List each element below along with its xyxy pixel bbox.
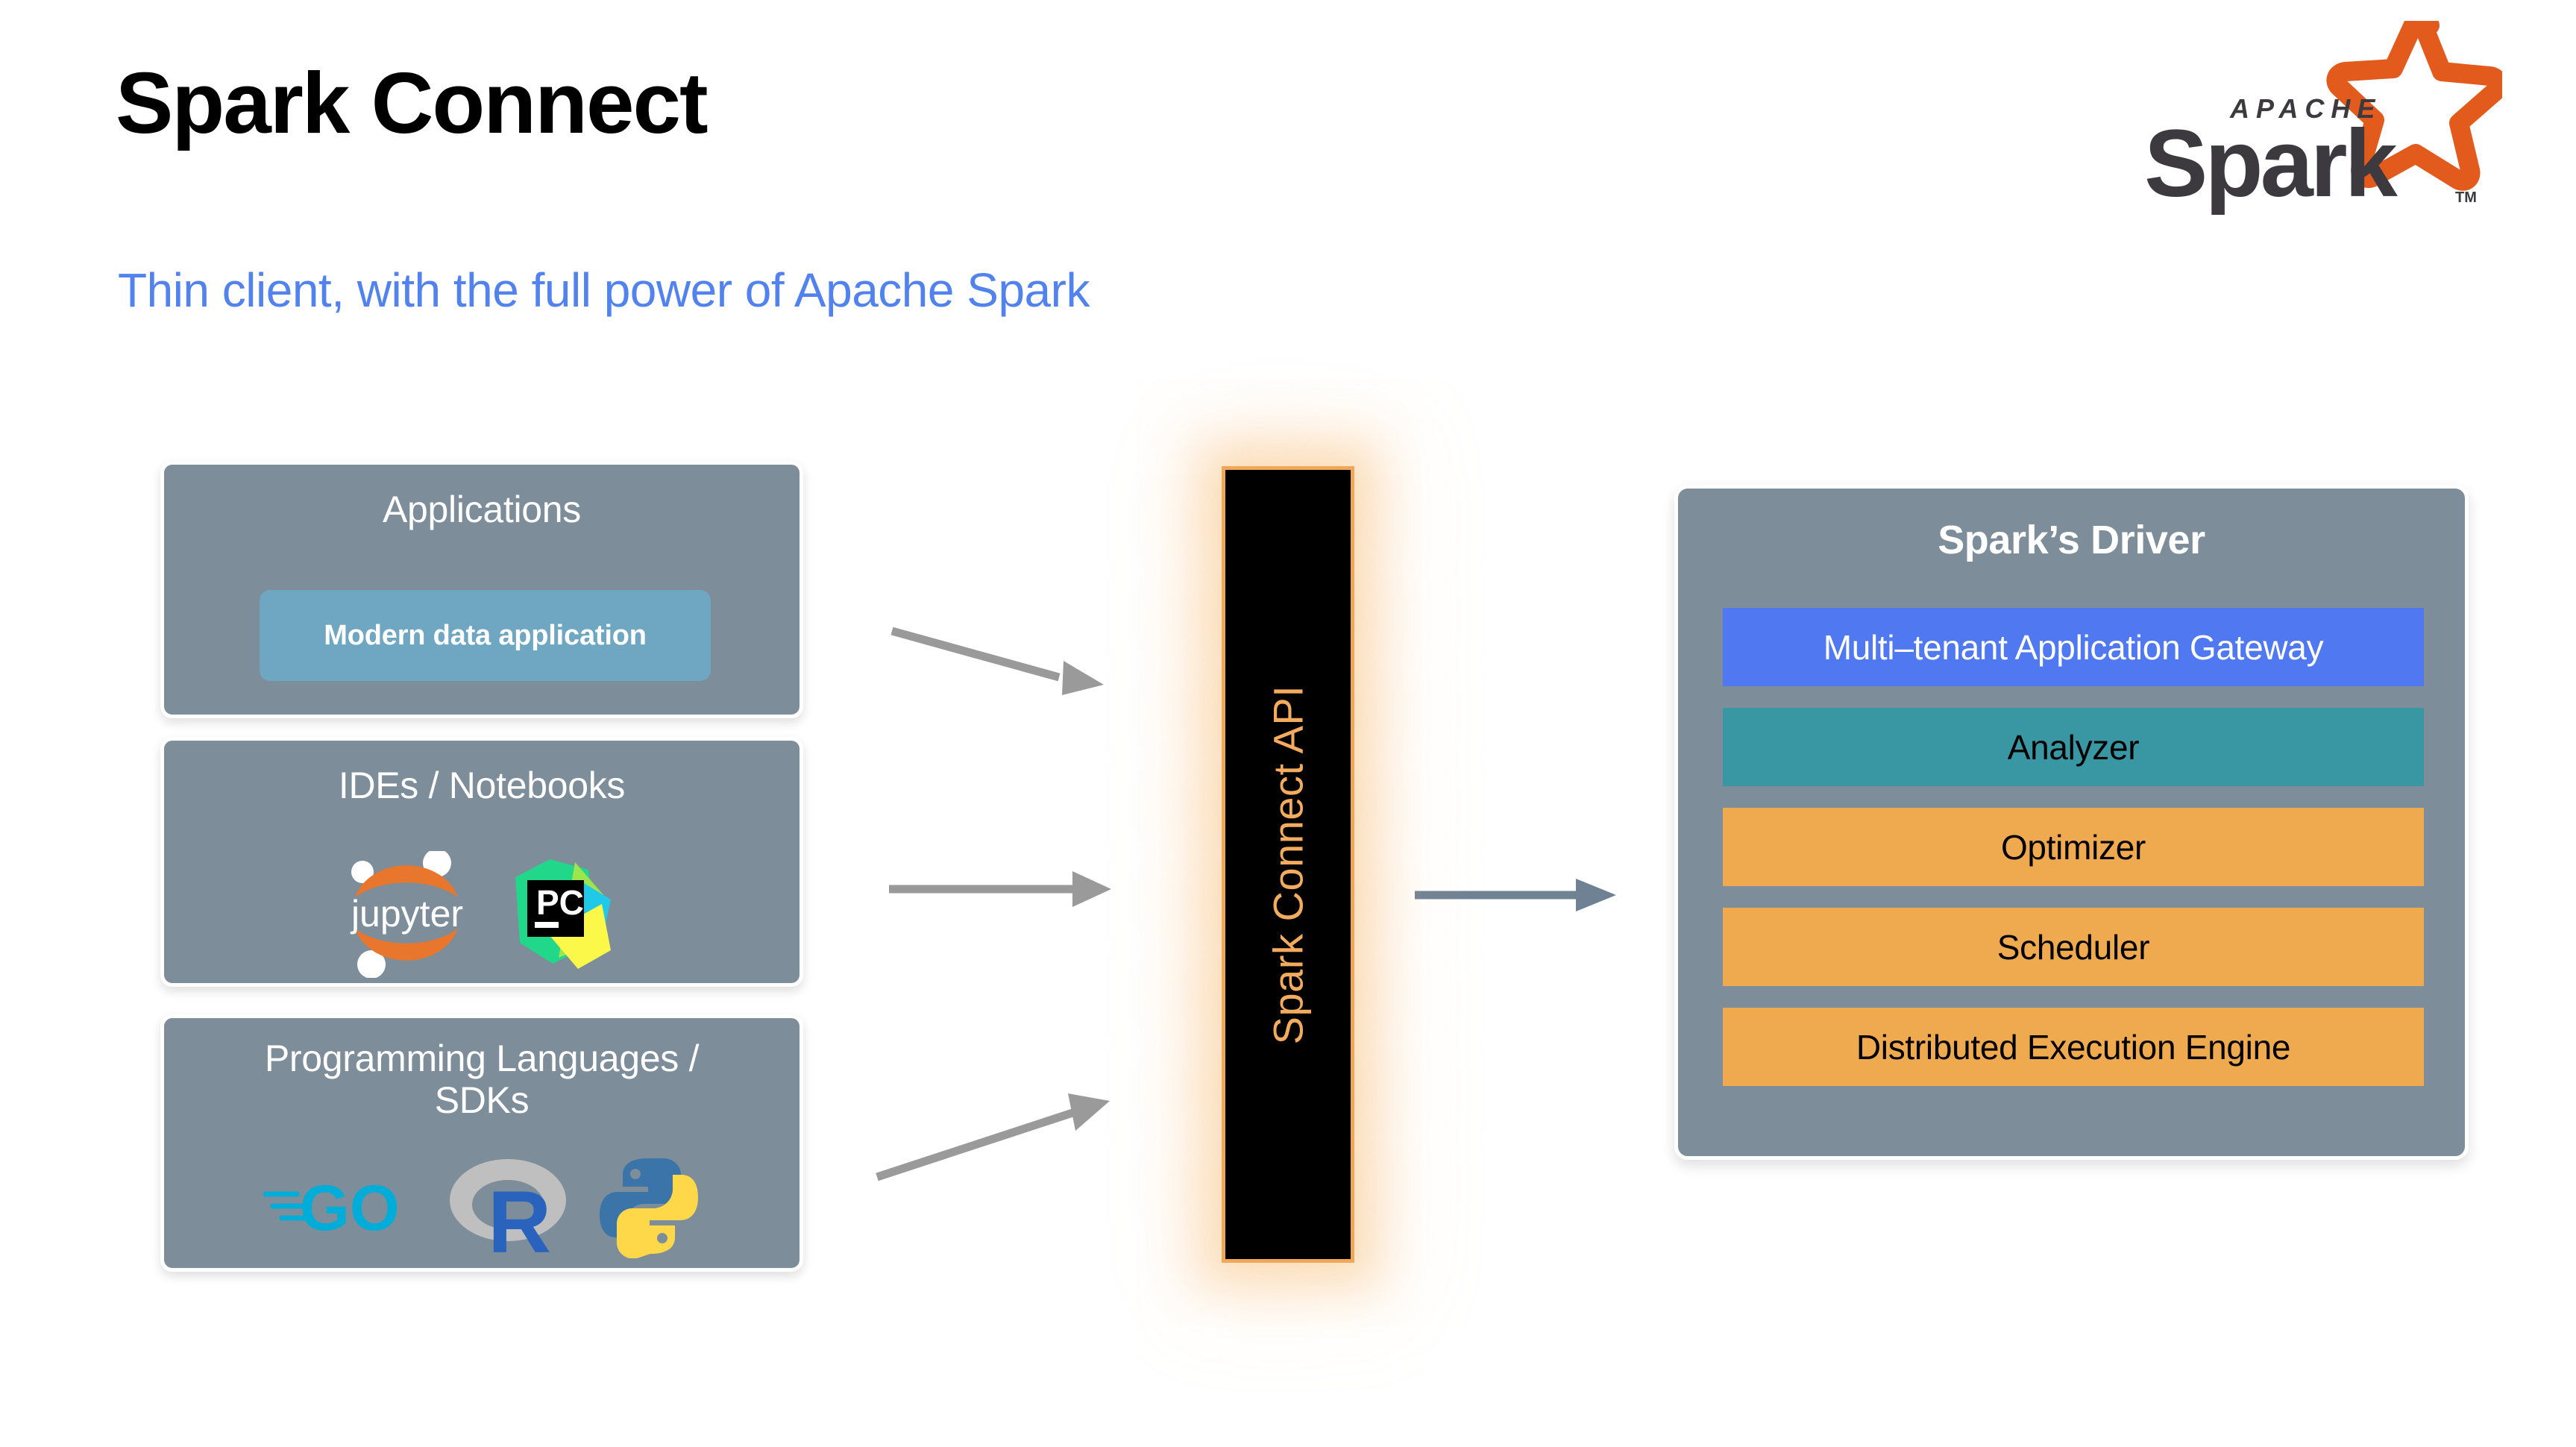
languages-logo-row: GO R (164, 1154, 799, 1258)
spark-connect-api-label: Spark Connect API (1264, 685, 1313, 1044)
panel-languages-title-line1: Programming Languages / (265, 1038, 699, 1079)
driver-stage-row[interactable]: Scheduler (1723, 908, 2424, 986)
driver-stage-list: Multi–tenant Application GatewayAnalyzer… (1723, 608, 2424, 1108)
go-speed-lines (266, 1194, 304, 1218)
panel-applications-title: Applications (164, 489, 799, 530)
r-letter: R (488, 1173, 551, 1258)
page-subtitle: Thin client, with the full power of Apac… (118, 263, 1090, 318)
driver-stage-row[interactable]: Analyzer (1723, 708, 2424, 786)
modern-data-application-box[interactable]: Modern data application (260, 590, 711, 681)
logo-spark-word: Spark (2144, 110, 2398, 215)
driver-stage-row[interactable]: Optimizer (1723, 808, 2424, 886)
apache-spark-logo: APACHE Spark TM (2129, 21, 2502, 215)
panel-applications[interactable]: Applications Modern data application (160, 461, 803, 718)
arrow-applications-to-api (888, 612, 1238, 723)
r-logo: R (444, 1154, 571, 1258)
panel-programming-languages[interactable]: Programming Languages / SDKs GO R (160, 1014, 803, 1272)
driver-stage-label: Multi–tenant Application Gateway (1823, 627, 2324, 668)
driver-stage-row[interactable]: Multi–tenant Application Gateway (1723, 608, 2424, 686)
pycharm-logo: PC (506, 853, 626, 976)
jupyter-wordmark: jupyter (349, 893, 462, 935)
panel-ides-notebooks[interactable]: IDEs / Notebooks jupyter PC (160, 737, 803, 987)
arrow-ides-to-api (888, 843, 1238, 932)
panel-languages-title-line2: SDKs (435, 1079, 530, 1121)
driver-stage-label: Optimizer (2001, 827, 2146, 867)
pycharm-underscore (535, 922, 559, 928)
pycharm-pc-label: PC (536, 883, 584, 922)
go-wordmark: GO (300, 1173, 400, 1244)
jupyter-logo: jupyter (339, 851, 477, 978)
panel-ides-title: IDEs / Notebooks (164, 765, 799, 806)
arrow-languages-to-api (873, 1044, 1238, 1193)
driver-stage-row[interactable]: Distributed Execution Engine (1723, 1008, 2424, 1086)
ides-logo-row: jupyter PC (164, 851, 799, 978)
python-logo (597, 1154, 701, 1258)
panel-languages-title: Programming Languages / SDKs (164, 1038, 799, 1121)
go-logo: GO (263, 1161, 419, 1251)
logo-trademark: TM (2455, 189, 2477, 206)
page-title: Spark Connect (116, 58, 707, 149)
panel-sparks-driver[interactable]: Spark’s Driver Multi–tenant Application … (1674, 485, 2469, 1160)
sparks-driver-title: Spark’s Driver (1678, 517, 2465, 563)
driver-stage-label: Analyzer (2008, 727, 2140, 768)
driver-stage-label: Distributed Execution Engine (1856, 1027, 2290, 1067)
driver-stage-label: Scheduler (1997, 927, 2149, 967)
slide-root: Spark Connect Thin client, with the full… (0, 0, 2576, 1447)
spark-connect-api-bar[interactable]: Spark Connect API (1222, 466, 1354, 1263)
arrow-api-to-driver (1413, 858, 1652, 932)
